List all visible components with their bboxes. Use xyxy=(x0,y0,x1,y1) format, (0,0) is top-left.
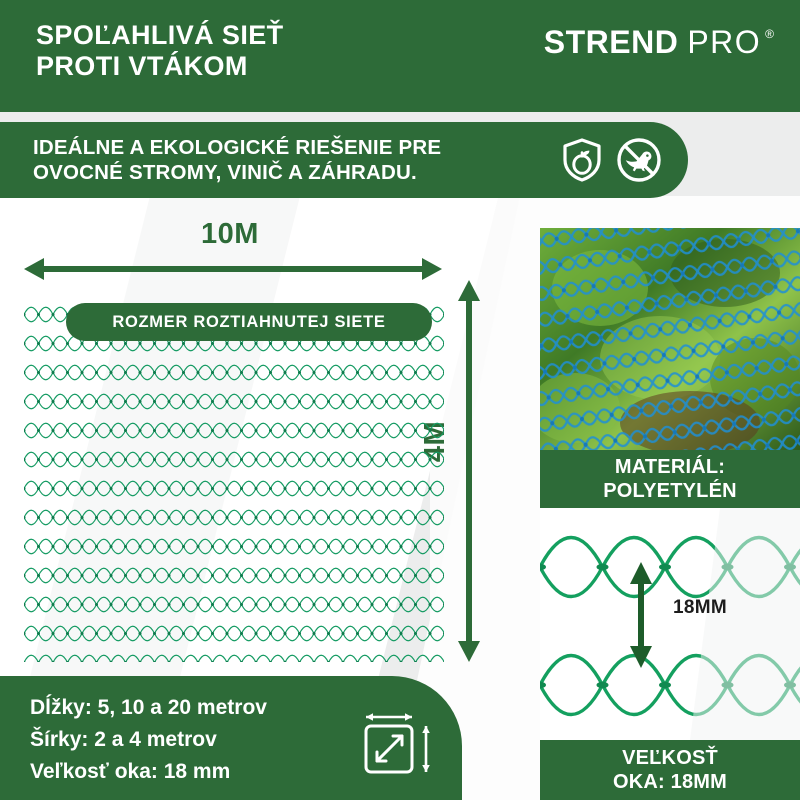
height-dimension-arrow xyxy=(455,280,483,667)
stretched-size-badge-label: ROZMER ROZTIAHNUTEJ SIETE xyxy=(112,313,385,332)
mesh-size-caption: VEĽKOSŤ OKA: 18MM xyxy=(540,740,800,800)
stretched-size-badge: ROZMER ROZTIAHNUTEJ SIETE xyxy=(66,303,432,341)
registered-mark-icon: ® xyxy=(765,27,774,41)
specs-panel: Dĺžky: 5, 10 a 20 metrov Šírky: 2 a 4 me… xyxy=(0,676,462,800)
logo-strend-text: STREND xyxy=(544,25,679,59)
subtitle-icon-group xyxy=(560,137,662,183)
page-title: SPOĽAHLIVÁ SIEŤ PROTI VTÁKOM xyxy=(36,20,284,82)
specs-list: Dĺžky: 5, 10 a 20 metrov Šírky: 2 a 4 me… xyxy=(30,692,267,788)
logo-pro-text: PRO xyxy=(687,25,761,59)
specs-line-length: Dĺžky: 5, 10 a 20 metrov xyxy=(30,692,267,724)
width-dimension-label: 10M xyxy=(0,218,460,251)
no-bird-icon xyxy=(616,137,662,183)
material-photo xyxy=(540,228,800,450)
subtitle-band: IDEÁLNE A EKOLOGICKÉ RIEŠENIE PRE OVOCNÉ… xyxy=(0,122,688,198)
dimensions-icon xyxy=(362,710,434,787)
mesh-detail-illustration xyxy=(540,508,800,740)
stretched-net-illustration xyxy=(24,300,444,662)
width-dimension-arrow xyxy=(24,255,442,288)
mesh-size-label: 18MM xyxy=(673,597,727,619)
material-caption: MATERIÁL: POLYETYLÉN xyxy=(540,450,800,508)
infographic-root: SPOĽAHLIVÁ SIEŤ PROTI VTÁKOM STREND PRO … xyxy=(0,0,800,800)
specs-line-width: Šírky: 2 a 4 metrov xyxy=(30,724,267,756)
brand-logo: STREND PRO ® xyxy=(544,25,774,59)
specs-line-mesh: Veľkosť oka: 18 mm xyxy=(30,756,267,788)
header-bar: SPOĽAHLIVÁ SIEŤ PROTI VTÁKOM STREND PRO … xyxy=(0,0,800,112)
shield-fruit-icon xyxy=(560,137,604,183)
mesh-size-caption-text: VEĽKOSŤ OKA: 18MM xyxy=(613,746,727,794)
material-caption-text: MATERIÁL: POLYETYLÉN xyxy=(603,455,737,503)
mesh-size-arrow xyxy=(628,562,654,673)
subtitle-text: IDEÁLNE A EKOLOGICKÉ RIEŠENIE PRE OVOCNÉ… xyxy=(33,135,441,185)
